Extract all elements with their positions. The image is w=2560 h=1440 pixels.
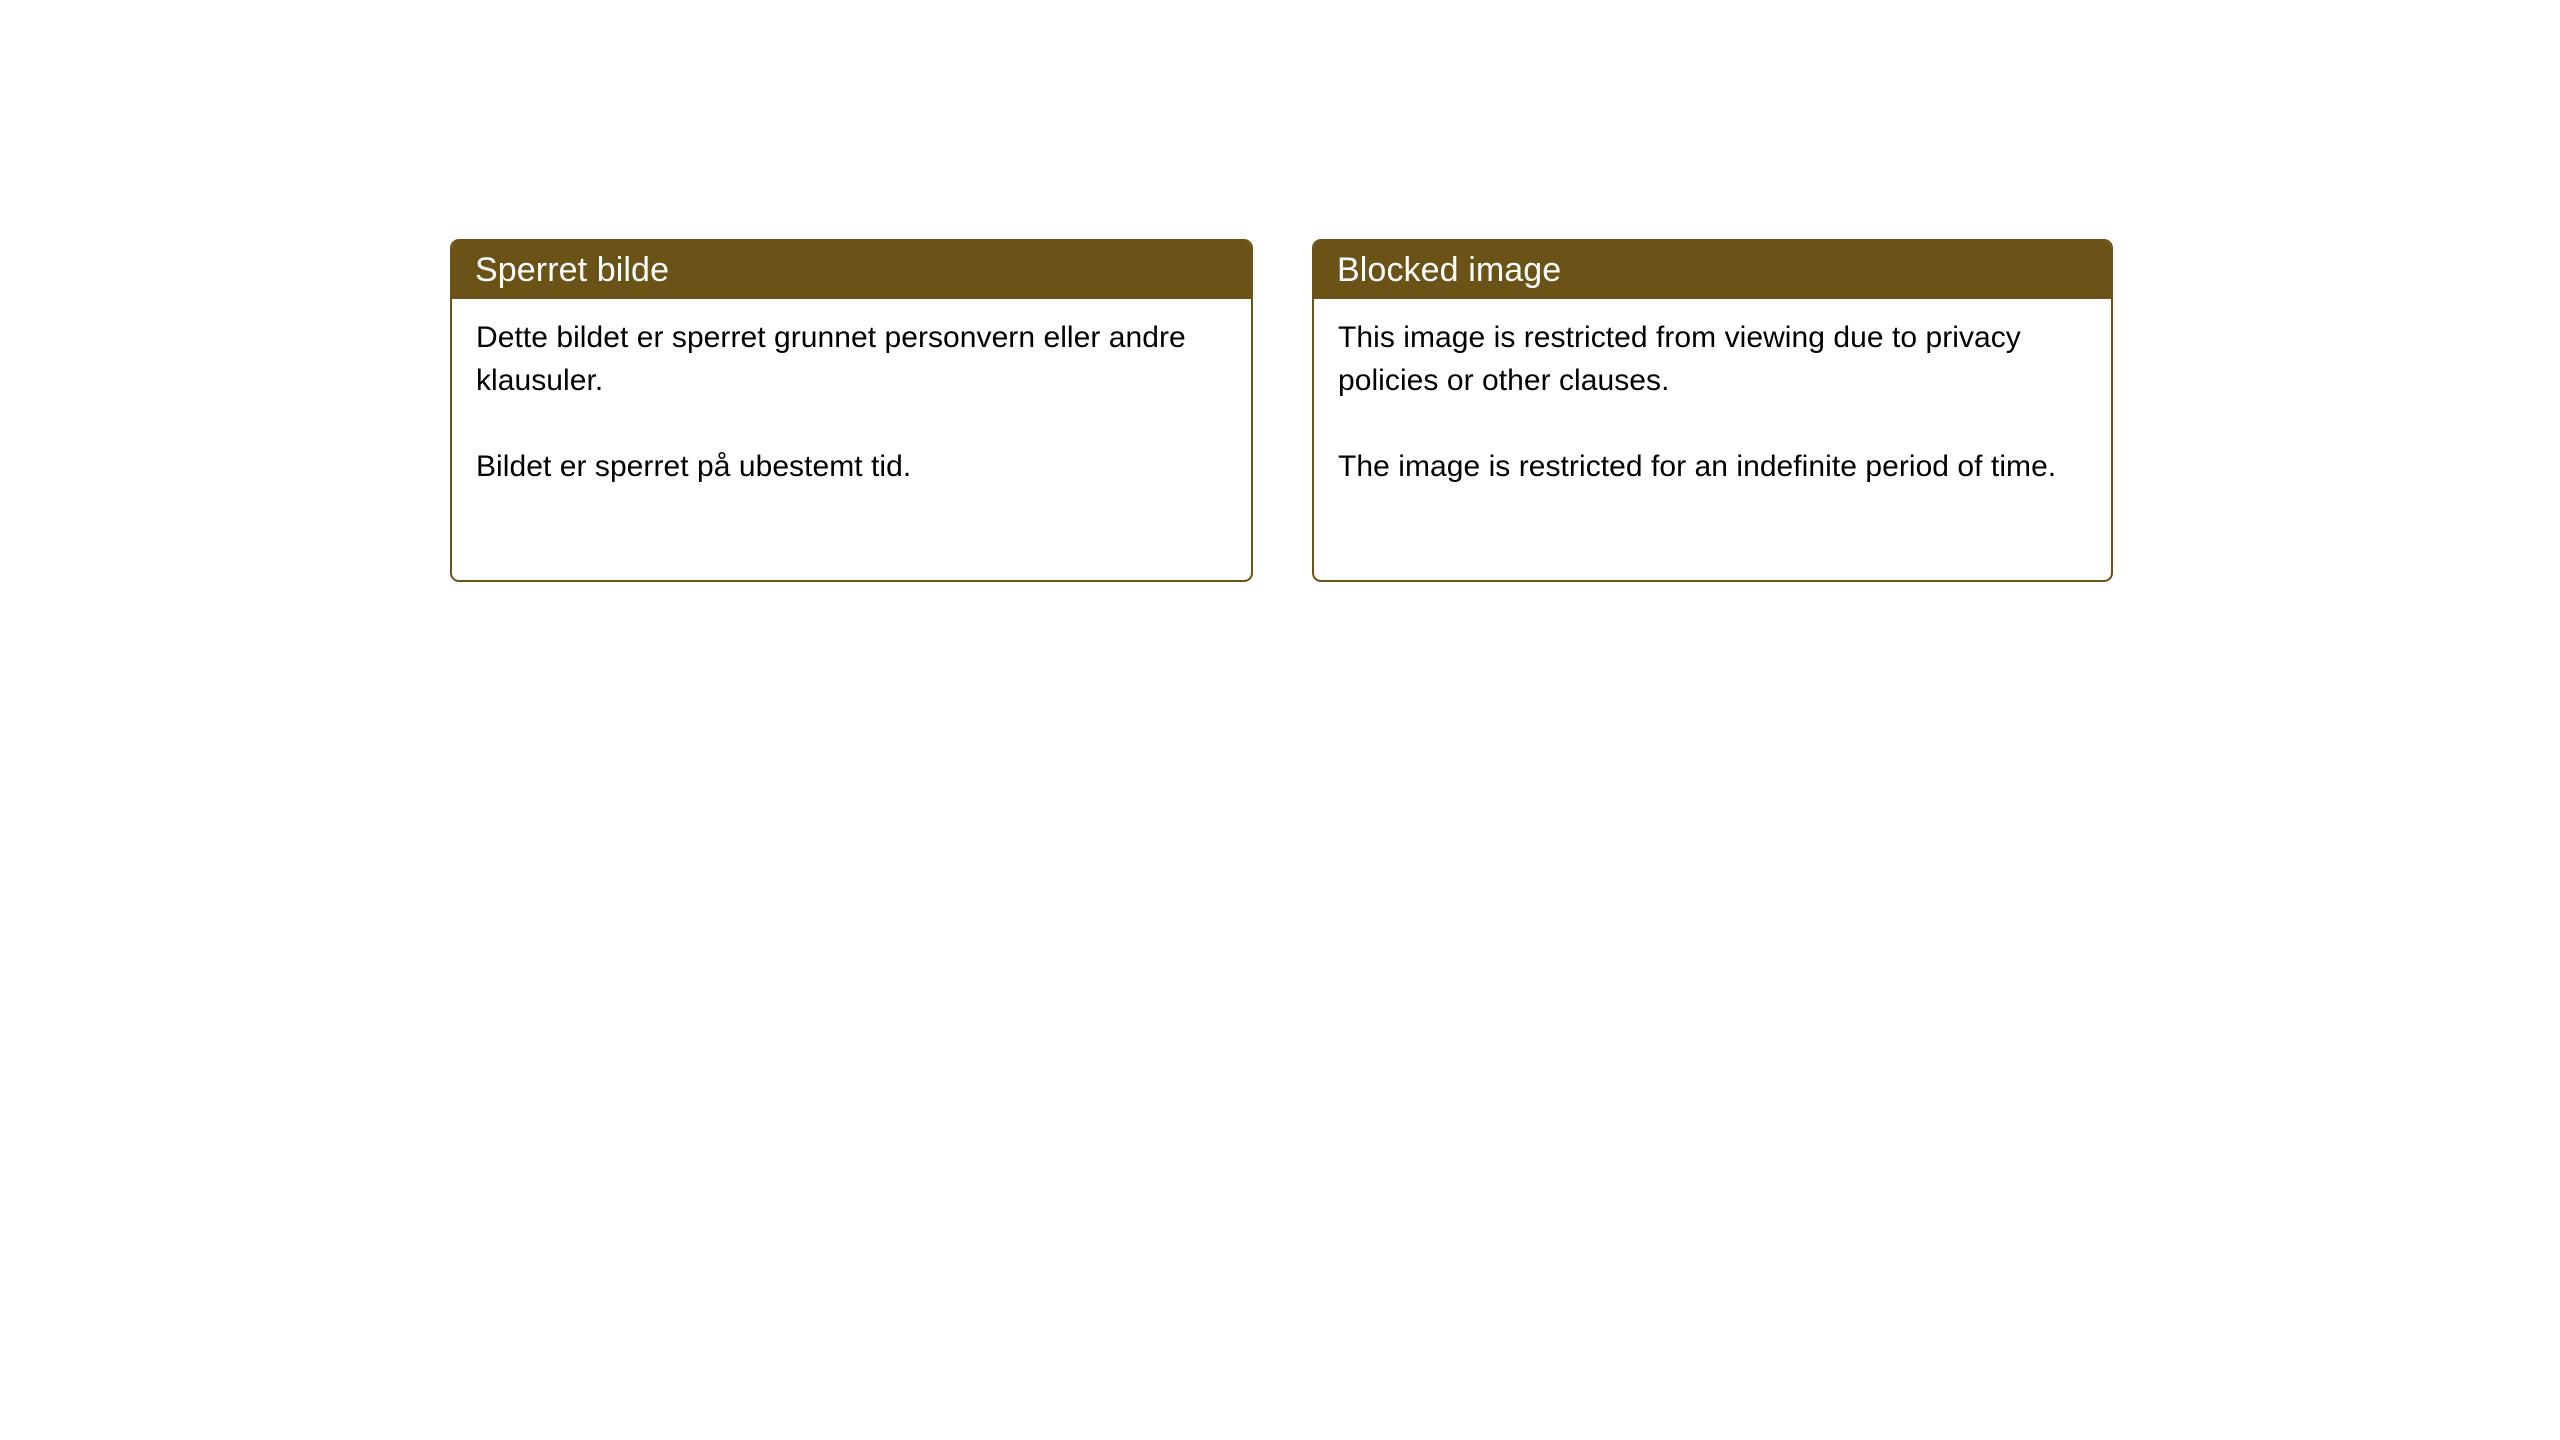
- card-header-norwegian: Sperret bilde: [451, 240, 1252, 299]
- card-body-english: This image is restricted from viewing du…: [1314, 299, 2111, 488]
- card-paragraph-privacy-english: This image is restricted from viewing du…: [1338, 316, 2089, 402]
- blocked-image-notice-norwegian: Sperret bilde Dette bildet er sperret gr…: [450, 239, 1253, 582]
- card-title-norwegian: Sperret bilde: [475, 252, 669, 288]
- card-body-norwegian: Dette bildet er sperret grunnet personve…: [452, 299, 1251, 488]
- card-paragraph-privacy-norwegian: Dette bildet er sperret grunnet personve…: [476, 316, 1229, 402]
- blocked-image-notice-english: Blocked image This image is restricted f…: [1312, 239, 2113, 582]
- card-title-english: Blocked image: [1337, 252, 1561, 288]
- card-header-english: Blocked image: [1313, 240, 2112, 299]
- card-paragraph-duration-english: The image is restricted for an indefinit…: [1338, 445, 2089, 488]
- page-root: Sperret bilde Dette bildet er sperret gr…: [0, 0, 2560, 1440]
- card-paragraph-duration-norwegian: Bildet er sperret på ubestemt tid.: [476, 445, 1229, 488]
